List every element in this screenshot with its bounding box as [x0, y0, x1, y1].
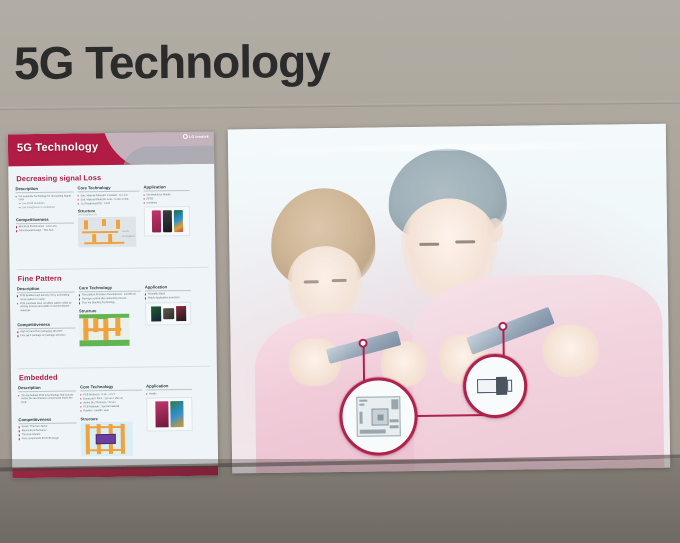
section-decreasing-signal-loss: Decreasing signal Loss Description 5G Su…: [15, 168, 208, 270]
section-title: Decreasing signal Loss: [16, 172, 207, 183]
application-bullets: Wearable Band Mobile Application process…: [145, 292, 191, 300]
application-images: [145, 302, 191, 326]
floor-shadow: [0, 459, 680, 543]
bullet: mmWave: [144, 200, 190, 204]
man-eye-right: [455, 240, 475, 243]
brand-name: LG Innotek: [189, 134, 209, 138]
core-technology-bullets: Fine pattern formation Development : L/S…: [79, 293, 141, 305]
section-title: Embedded: [19, 371, 210, 382]
description-bullets: PCB Enables high density I/O by embeddin…: [17, 294, 75, 313]
column-application: Application Mobile: [146, 383, 193, 464]
camera-lens: [496, 377, 507, 395]
structure-header: Structure: [78, 208, 140, 214]
bullet: Fine Via Stacking Technology: [79, 301, 141, 305]
logo-mark-icon: [183, 134, 188, 139]
bullet: Low Roughness Cu Substrate: [16, 206, 74, 210]
bullet: Mobile: [146, 392, 192, 396]
poster-title: 5G Technology: [17, 141, 98, 154]
bullet: Mobile Application processor: [145, 296, 191, 300]
poster-header: 5G Technology LG Innotek: [8, 132, 214, 167]
cpu-socket-icon: [371, 408, 388, 425]
core-technology-bullets: PCB thickness : 0.28 ~ 0.5 T Bump pad / …: [80, 392, 142, 412]
structure-diagram-embedded: [81, 421, 133, 456]
column-description: Description 5G Substrate Technology for …: [15, 185, 74, 266]
bullet: Free components for PCB design: [19, 437, 77, 441]
column-description: Description PCB Enables high density I/O…: [17, 285, 76, 366]
application-bullets: 5G Module for Mobile RFFE mmWave: [144, 192, 190, 204]
column-core-technology: Core Technology Sub. Material Dielectric…: [77, 185, 140, 266]
circuit-board-icon: [356, 396, 401, 437]
column-core-technology: Core Technology Fine pattern formation D…: [79, 284, 142, 365]
structure-diagram-fine-pattern: [79, 314, 129, 347]
man-hand-right: [542, 325, 599, 378]
competitiveness-bullets: High I/O and Thin packaging structure Fi…: [17, 330, 75, 338]
product-image-wearable: [151, 306, 161, 321]
competitiveness-bullets: Small / Thin form factor Electrical perf…: [19, 425, 77, 441]
column-header: Description: [18, 385, 76, 393]
column-core-technology: Core Technology PCB thickness : 0.28 ~ 0…: [80, 384, 143, 465]
bullet: Dimensional Design : Thin Sub.: [16, 229, 74, 233]
column-description: Description The Embedded PCB is technolo…: [18, 385, 77, 466]
callout-marker-camera[interactable]: [498, 322, 507, 331]
section-title: Fine Pattern: [18, 271, 209, 282]
product-image-phone-color: [170, 402, 183, 428]
structure-header: Structure: [79, 307, 141, 313]
header-swoosh-decor-2: [122, 146, 214, 167]
exhibition-scene: 5G Technology 5G Technology LG Innotek D…: [0, 0, 680, 543]
column-header: Application: [145, 284, 191, 292]
product-image-module: [176, 306, 186, 321]
description-bullets: The Embedded PCB is technology that moun…: [18, 393, 76, 405]
column-header: Description: [17, 285, 75, 293]
structure-header: Structure: [80, 415, 142, 421]
photo-panel: [228, 124, 670, 474]
competitiveness-bullets: Electrical Performance : Low Loss Dimens…: [16, 225, 74, 233]
product-image-phone-pink: [155, 402, 168, 428]
child-eye-right: [332, 279, 347, 282]
bullet: Fine pitch package on package structure: [17, 334, 75, 338]
column-header: Competitiveness: [17, 321, 75, 329]
column-header: Core Technology: [77, 185, 139, 193]
section-fine-pattern: Fine Pattern Description PCB Enables hig…: [17, 267, 210, 369]
section-embedded: Embedded Description The Embedded PCB is…: [18, 367, 211, 468]
application-images: [146, 397, 192, 432]
display-board: 5G Technology LG Innotek Decreasing sign…: [6, 122, 672, 479]
bullet: The Embedded PCB is technology that moun…: [18, 393, 76, 405]
photo-illustration: [228, 124, 670, 474]
core-technology-bullets: Sub. Material Dielectric Constant : 3.2~…: [78, 193, 140, 205]
column-application: Application Wearable Band Mobile Applica…: [145, 284, 192, 365]
product-image-chip: [163, 308, 174, 319]
poster-body: Decreasing signal Loss Description 5G Su…: [8, 164, 218, 469]
wall-seam: [0, 101, 680, 111]
column-header: Core Technology: [80, 384, 142, 392]
camera-cap: [507, 380, 512, 392]
column-application: Application 5G Module for Mobile RFFE mm…: [143, 184, 190, 265]
description-bullets: 5G Substrate Technology for decreasing S…: [16, 194, 74, 210]
product-image-phone-dark: [162, 210, 171, 232]
page-title: 5G Technology: [14, 34, 330, 90]
man-ear: [487, 218, 503, 242]
man-eye-left: [419, 243, 439, 246]
column-header: Application: [143, 184, 189, 192]
column-header: Competitiveness: [19, 416, 77, 424]
product-image-phone-color: [173, 210, 182, 232]
product-image-phone-pink: [151, 210, 160, 232]
column-header: Description: [15, 185, 73, 193]
lg-innotek-logo: LG Innotek: [183, 134, 209, 139]
application-bullets: Mobile: [146, 392, 192, 396]
bullet: Position : Interfill / Hole: [80, 408, 142, 412]
child-eye-left: [304, 280, 319, 283]
column-header: Core Technology: [79, 284, 141, 292]
bullet: PCB substrate does not affect pattern wi…: [17, 301, 75, 313]
column-header: Application: [146, 383, 192, 391]
callout-marker-pcb[interactable]: [359, 339, 368, 348]
column-header: Competitiveness: [16, 216, 74, 224]
structure-diagram-signal-loss: Low Dk Rz Roughness: [78, 217, 136, 248]
poster-panel: 5G Technology LG Innotek Decreasing sign…: [8, 132, 218, 479]
camera-body: [477, 379, 497, 393]
bullet: Cu Roughness(Rz) : 0.5 R: [78, 201, 140, 205]
application-images: [144, 206, 190, 237]
camera-module-icon: [477, 377, 513, 395]
